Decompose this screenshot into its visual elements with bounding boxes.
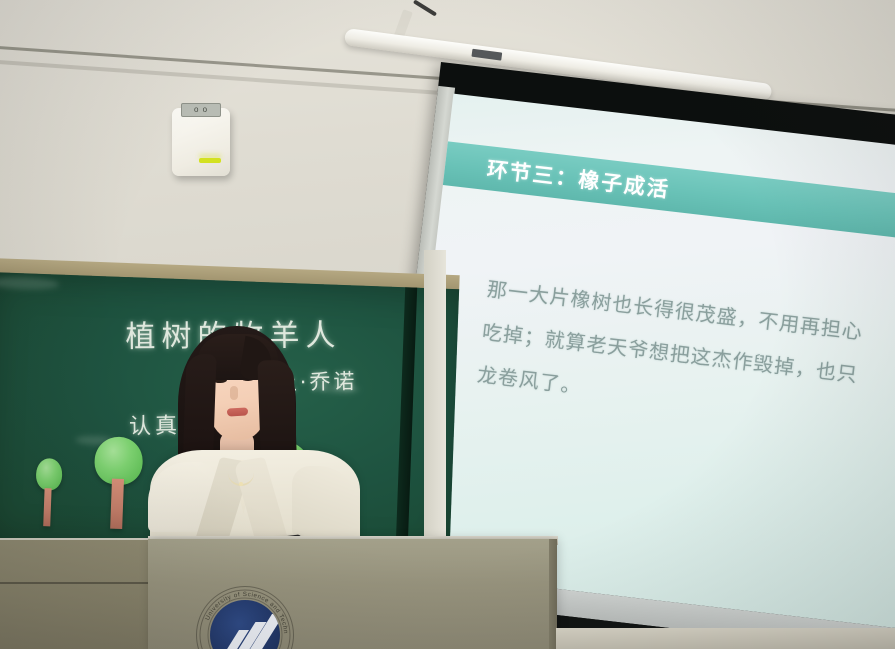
university-emblem: University of Science and Technology — [196, 586, 294, 649]
slide-banner-title: 环节三：橡子成活 — [485, 153, 671, 204]
mouth — [227, 407, 248, 416]
wall-strip-beside-board — [424, 250, 446, 560]
tree-trunk — [43, 488, 51, 526]
paper-tree-small — [32, 458, 65, 531]
tree-trunk — [110, 479, 124, 529]
nose — [230, 386, 238, 400]
roller-brand-label — [471, 49, 502, 61]
slide-section-banner: 环节三：橡子成活 — [443, 141, 895, 243]
classroom-photo-scene: o o 环节三：橡子成活 那一大片橡树也长得很茂盛，不用再担心 吃掉；就算老天爷… — [0, 0, 895, 649]
wall-mounted-device: o o — [172, 108, 230, 176]
slide-body-text: 那一大片橡树也长得很茂盛，不用再担心 吃掉；就算老天爷想把这杰作毁掉，也只 龙卷… — [475, 269, 895, 451]
necklace-pendant — [239, 482, 243, 486]
wall-device-indicator-light — [199, 158, 221, 163]
paper-tree-medium — [92, 436, 145, 534]
chalk-smudge — [0, 276, 59, 291]
tree-crown — [36, 458, 63, 491]
wall-device-display: o o — [181, 103, 221, 117]
floor-strip — [556, 628, 895, 649]
